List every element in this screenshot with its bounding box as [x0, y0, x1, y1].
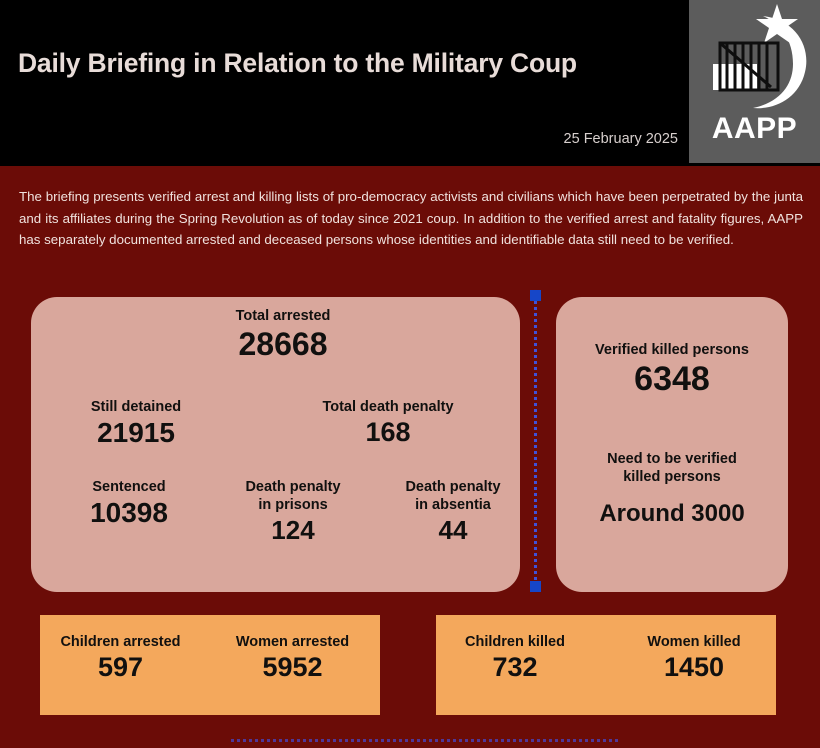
stat-women-arrested: Women arrested 5952: [213, 634, 372, 683]
stat-need-to-be-verified-killed-label: Need to be verified killed persons: [570, 451, 774, 487]
stat-still-detained-value: 21915: [46, 418, 226, 449]
stat-women-arrested-label: Women arrested: [213, 634, 372, 652]
stat-total-death-penalty-value: 168: [290, 418, 486, 448]
stat-still-detained: Still detained 21915: [46, 399, 226, 449]
stat-women-killed-value: 1450: [620, 653, 768, 683]
stat-total-arrested-value: 28668: [183, 327, 383, 362]
stat-children-arrested-value: 597: [44, 653, 197, 683]
prison-cage-crescent-star-icon: [689, 2, 820, 120]
stat-need-to-be-verified-killed-value: Around 3000: [570, 501, 774, 527]
stat-death-penalty-in-prisons-value: 124: [220, 516, 366, 545]
infographic-page: Daily Briefing in Relation to the Milita…: [0, 0, 820, 748]
stat-total-arrested: Total arrested 28668: [183, 308, 383, 362]
vertical-divider-guide[interactable]: [534, 295, 537, 592]
aapp-wordmark: AAPP: [689, 112, 820, 146]
page-title: Daily Briefing in Relation to the Milita…: [18, 48, 678, 78]
stat-verified-killed-persons-value: 6348: [563, 361, 781, 398]
stat-women-killed-label: Women killed: [620, 634, 768, 652]
stat-death-penalty-in-absentia: Death penalty in absentia 44: [380, 479, 526, 545]
stat-children-killed: Children killed 732: [442, 634, 588, 683]
stat-death-penalty-in-prisons: Death penalty in prisons 124: [220, 479, 366, 545]
stat-sentenced-value: 10398: [46, 498, 212, 529]
stat-women-arrested-value: 5952: [213, 653, 372, 683]
stat-women-killed: Women killed 1450: [620, 634, 768, 683]
stat-death-penalty-in-absentia-label: Death penalty in absentia: [380, 479, 526, 515]
stat-death-penalty-in-prisons-label: Death penalty in prisons: [220, 479, 366, 515]
divider-handle-top[interactable]: [530, 290, 541, 301]
stat-still-detained-label: Still detained: [46, 399, 226, 417]
briefing-description: The briefing presents verified arrest an…: [19, 186, 803, 251]
stat-sentenced: Sentenced 10398: [46, 479, 212, 529]
stat-total-arrested-label: Total arrested: [183, 308, 383, 326]
divider-handle-bottom[interactable]: [530, 581, 541, 592]
aapp-logo-panel: AAPP: [689, 0, 820, 163]
stat-sentenced-label: Sentenced: [46, 479, 212, 497]
stat-need-to-be-verified-killed: Need to be verified killed persons Aroun…: [570, 451, 774, 527]
stat-children-arrested: Children arrested 597: [44, 634, 197, 683]
stat-verified-killed-persons: Verified killed persons 6348: [563, 342, 781, 398]
stat-children-arrested-label: Children arrested: [44, 634, 197, 652]
stat-verified-killed-persons-label: Verified killed persons: [563, 342, 781, 360]
stat-children-killed-value: 732: [442, 653, 588, 683]
horizontal-divider-guide[interactable]: [231, 739, 621, 742]
stat-total-death-penalty-label: Total death penalty: [290, 399, 486, 417]
stat-children-killed-label: Children killed: [442, 634, 588, 652]
briefing-date: 25 February 2025: [300, 131, 678, 147]
stat-total-death-penalty: Total death penalty 168: [290, 399, 486, 448]
stat-death-penalty-in-absentia-value: 44: [380, 516, 526, 545]
